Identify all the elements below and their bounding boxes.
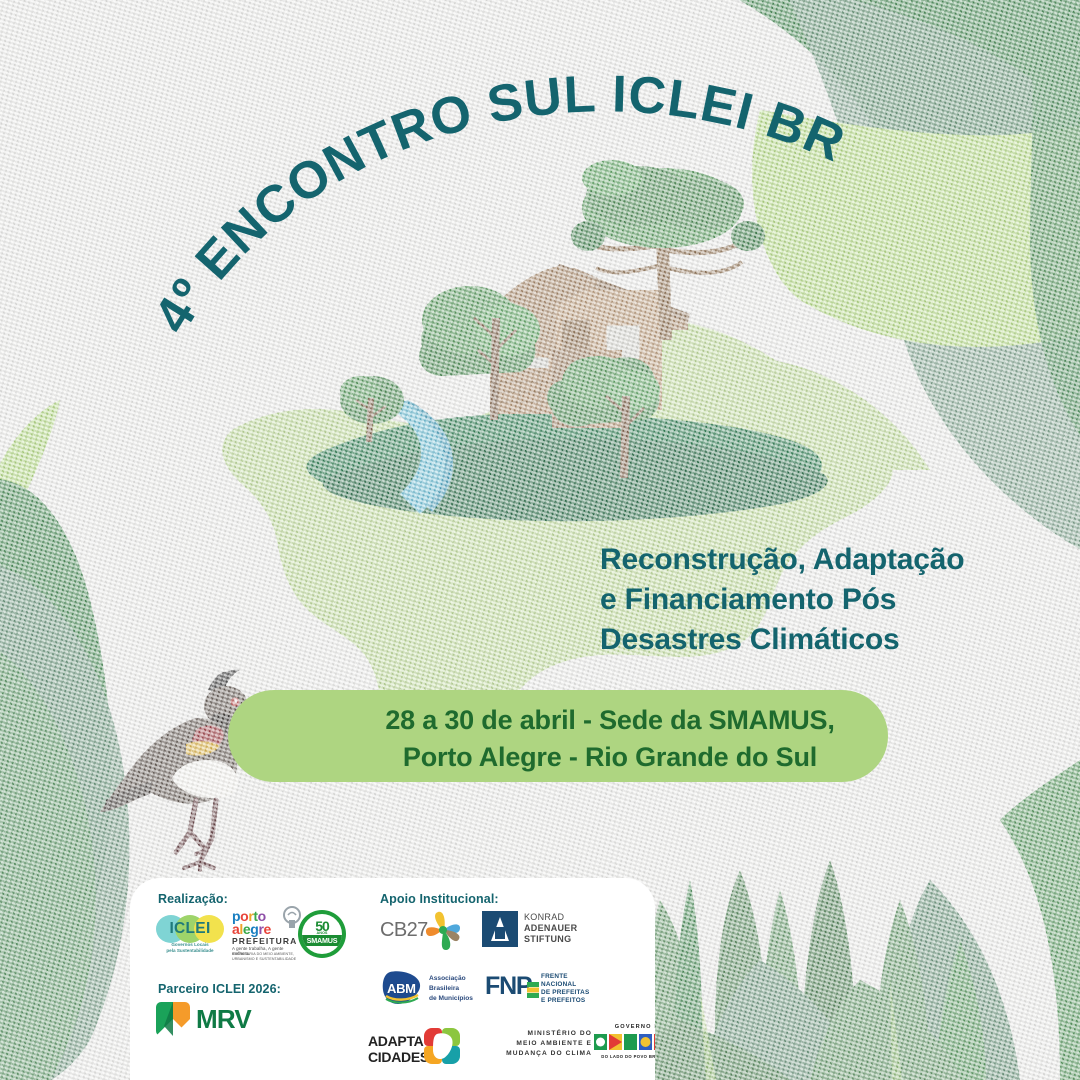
konrad-line-3: STIFTUNG [524,934,571,944]
adapta-mark-icon [424,1028,460,1064]
logo-konrad-adenauer-stiftung[interactable]: KONRAD ADENAUER STIFTUNG [482,910,594,948]
date-line-1: 28 a 30 de abril - Sede da SMAMUS, [300,702,920,739]
date-location-block: 28 a 30 de abril - Sede da SMAMUS, Porto… [300,702,920,777]
logo-adapta-cidades[interactable]: ADAPTA CIDADES [368,1024,468,1066]
porto-alegre-prefeitura: PREFEITURA [232,936,297,946]
konrad-a-inner [495,927,505,939]
logo-ministerio-meio-ambiente[interactable]: MINISTÉRIO DO MEIO AMBIENTE E MUDANÇA DO… [482,1030,592,1062]
adapta-line-1: ADAPTA [368,1034,429,1050]
logo-porto-alegre-prefeitura[interactable]: porto alegre PREFEITURA A gente trabalha… [230,906,302,958]
arc-title: 4º ENCONTRO SUL ICLEI BRASIL [0,60,1080,400]
governo-bottom-label: DO LADO DO POVO BRASILEIRO [592,1054,655,1059]
iclei-wordmark: ICLEI [156,920,224,938]
konrad-line-1: KONRAD [524,912,564,922]
label-parceiro: Parceiro ICLEI 2026: [158,982,281,996]
governo-brasil-wordmark-icon [592,1032,655,1052]
logo-cb27[interactable]: CB27 [380,910,466,950]
sponsor-panel: Realização: Parceiro ICLEI 2026: Apoio I… [130,878,655,1080]
logo-governo-do-brasil[interactable]: GOVERNO DO DO LADO DO POVO BRASILEIRO [592,1024,655,1064]
label-apoio: Apoio Institucional: [380,892,499,906]
event-poster: 4º ENCONTRO SUL ICLEI BRASIL Reconstruçã… [0,0,1080,1080]
subtitle-line-2: e Financiamento Pós [600,580,1030,620]
abm-wordmark: ABM [387,981,416,996]
fnp-wordmark: FNP [485,972,531,1001]
ministerio-line-2: MEIO AMBIENTE E [482,1040,592,1047]
abm-line-2: Brasileira [429,984,459,994]
adapta-line-2: CIDADES [368,1050,429,1066]
iclei-tagline: Governos Locais pela Sustentabilidade [156,942,224,954]
logo-mrv[interactable]: MRV [156,1002,261,1036]
konrad-line-2: ADENAUER [524,923,577,933]
cb27-wordmark: CB27 [380,919,428,942]
ministerio-line-3: MUDANÇA DO CLIMA [482,1050,592,1057]
porto-alegre-secretaria: SECRETARIA DO MEIO AMBIENTE, URBANISMO E… [232,952,296,962]
logo-fnp[interactable]: FNP FRENTE NACIONAL DE PREFEITAS E PREFE… [485,970,607,1006]
subtitle-line-3: Desastres Climáticos [600,620,1030,660]
mrv-wordmark: MRV [196,1004,251,1035]
arc-title-text: 4º ENCONTRO SUL ICLEI BRASIL [0,60,853,343]
porto-alegre-secretaria-2: URBANISMO E SUSTENTABILIDADE [232,957,296,962]
logo-iclei[interactable]: ICLEI Governos Locais pela Sustentabilid… [156,912,224,956]
smamus-name: SMAMUS [302,936,342,945]
subtitle-line-1: Reconstrução, Adaptação [600,540,1030,580]
fnp-line-4: E PREFEITOS [541,996,585,1005]
logo-smamus-50-anos[interactable]: 50 ANOS SMAMUS [298,910,346,958]
iclei-tagline-2: pela Sustentabilidade [156,948,224,954]
cb27-flower-icon [422,910,466,952]
fnp-flag-icon [527,982,539,998]
governo-top-label: GOVERNO DO [592,1024,655,1030]
logo-abm[interactable]: ABM Associação Brasileira de Municípios [380,968,498,1008]
label-realizacao: Realização: [158,892,228,906]
ministerio-line-1: MINISTÉRIO DO [482,1030,592,1037]
subtitle-block: Reconstrução, Adaptação e Financiamento … [600,540,1030,660]
porto-alegre-alegre: alegre [232,921,271,937]
abm-line-1: Associação [429,974,466,984]
abm-line-3: de Municípios [429,994,473,1004]
mrv-mark-icon [156,1002,190,1036]
adapta-wordmark: ADAPTA CIDADES [368,1034,429,1065]
date-line-2: Porto Alegre - Rio Grande do Sul [300,739,920,776]
